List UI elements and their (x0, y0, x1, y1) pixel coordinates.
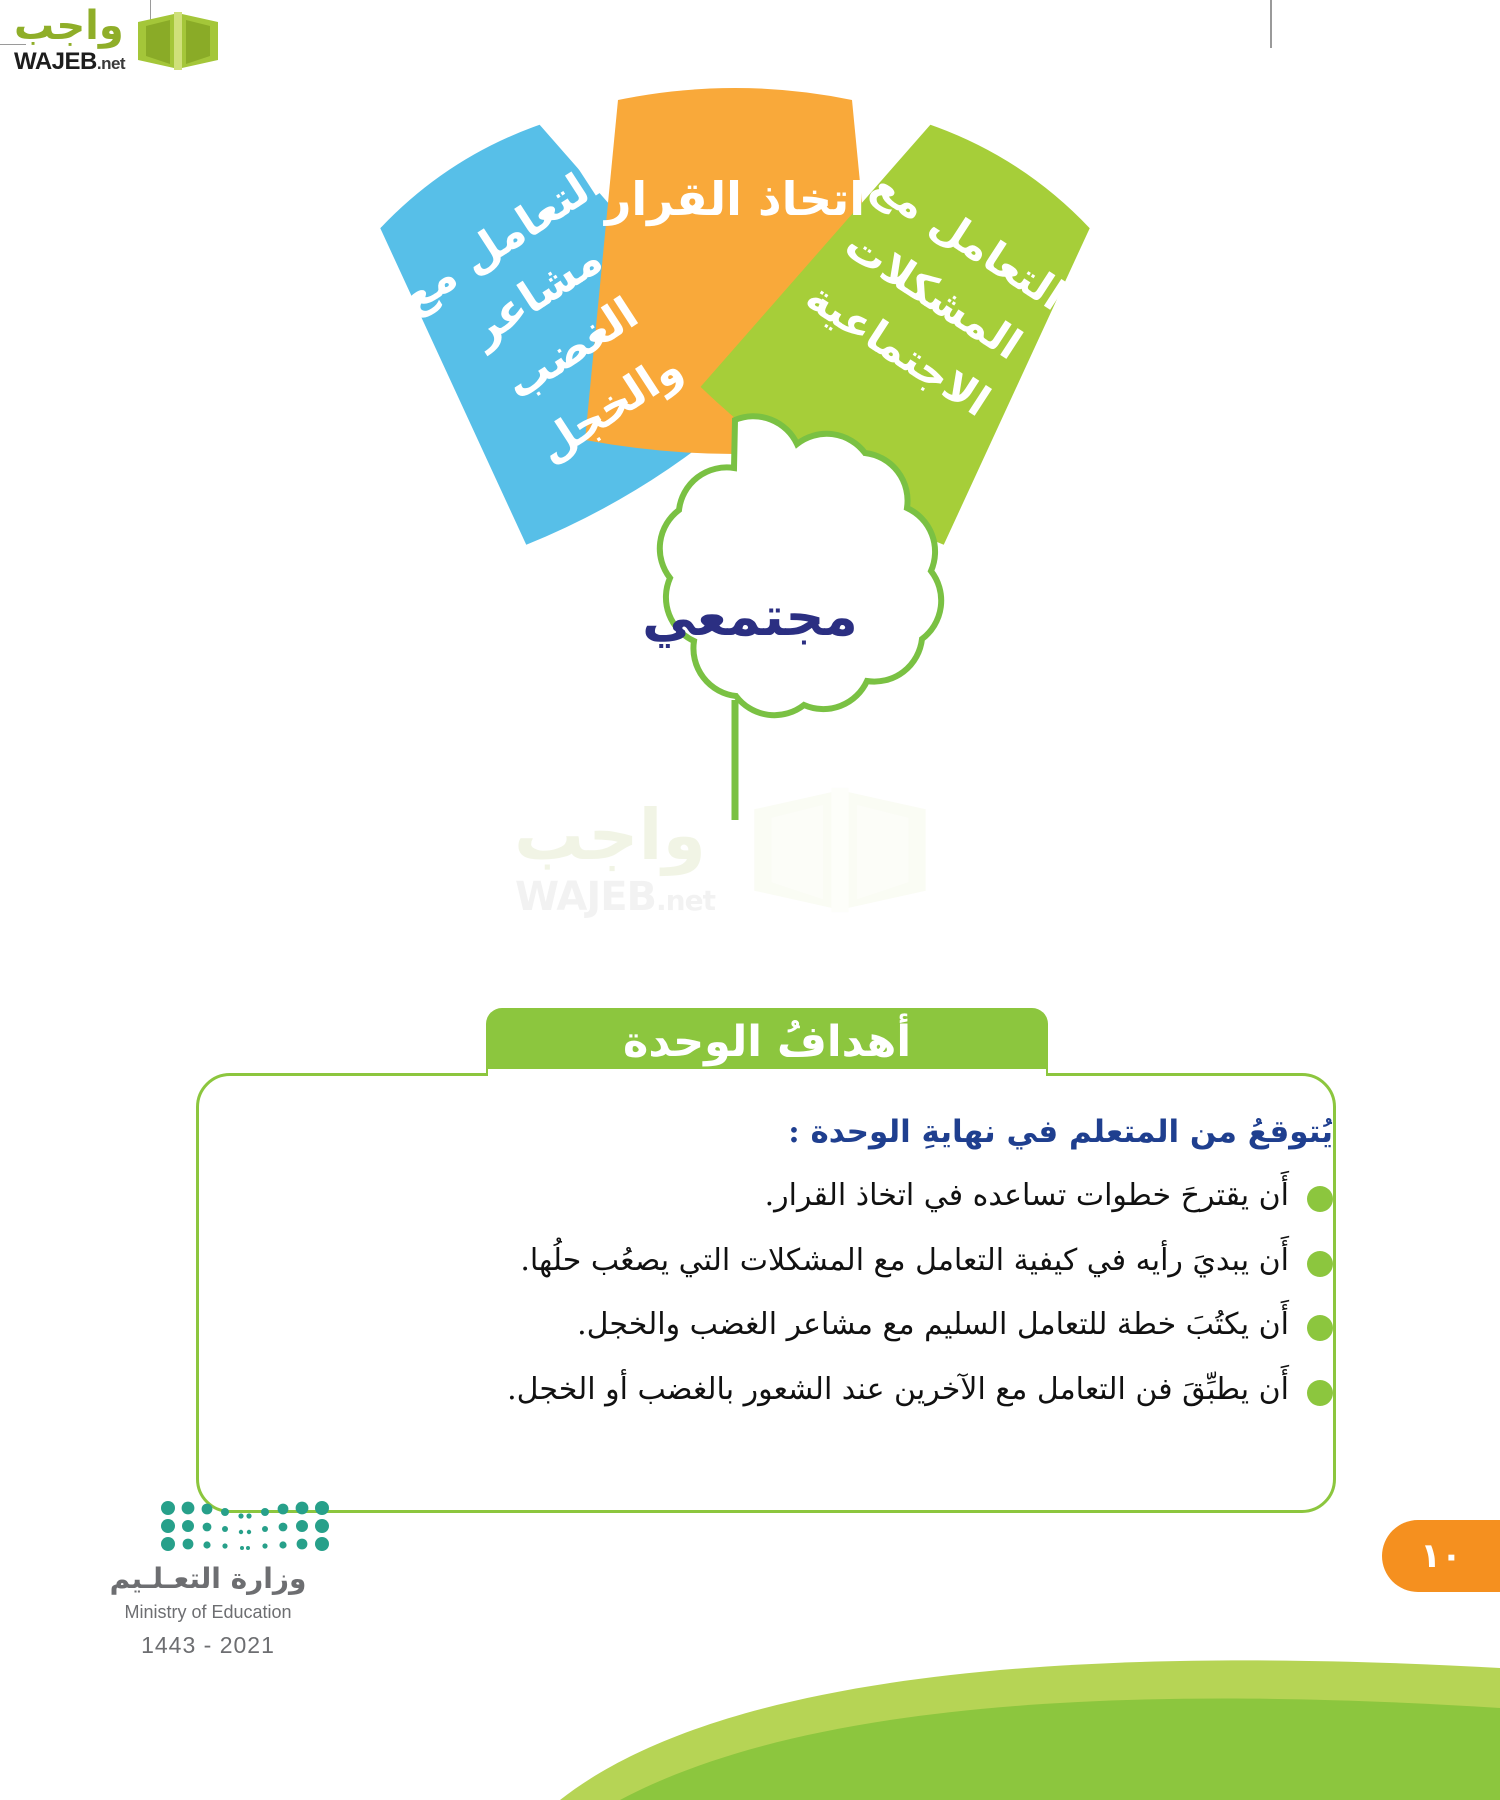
bottom-decoration (0, 1530, 1500, 1800)
petal-center-label: اتخاذ القرار (603, 172, 865, 226)
bullet-dot-icon (1307, 1186, 1333, 1212)
watermark-latin-text: WAJEB (515, 874, 656, 920)
list-item: أَن يبديَ رأيه في كيفية التعامل مع المشك… (238, 1241, 1333, 1282)
flower-center-label: مجتمعي (0, 585, 1500, 648)
watermark-book-icon (750, 780, 930, 920)
banner-seam-mask (488, 1069, 1046, 1077)
list-item: أَن يطبِّقَ فن التعامل مع الآخرين عند ال… (238, 1370, 1333, 1411)
bullet-dot-icon (1307, 1315, 1333, 1341)
objectives-list: أَن يقترحَ خطوات تساعده في اتخاذ القرار.… (238, 1176, 1333, 1434)
objectives-banner: أهدافُ الوحدة (486, 1008, 1048, 1076)
objective-text: أَن يطبِّقَ فن التعامل مع الآخرين عند ال… (238, 1370, 1289, 1411)
bullet-dot-icon (1307, 1251, 1333, 1277)
objective-text: أَن يكتُبَ خطة للتعامل السليم مع مشاعر ا… (238, 1305, 1289, 1346)
watermark-arabic: واجب (470, 800, 750, 870)
objectives-box: يُتوقعُ من المتعلم في نهايةِ الوحدة : أَ… (196, 1073, 1336, 1513)
wajeb-watermark: واجب WAJEB.net (470, 800, 1000, 960)
watermark-tld: .net (656, 884, 715, 917)
objectives-banner-title: أهدافُ الوحدة (623, 1017, 911, 1067)
objective-text: أَن يقترحَ خطوات تساعده في اتخاذ القرار. (238, 1176, 1289, 1217)
objective-text: أَن يبديَ رأيه في كيفية التعامل مع المشك… (238, 1241, 1289, 1282)
watermark-latin: WAJEB.net (470, 874, 760, 920)
list-item: أَن يقترحَ خطوات تساعده في اتخاذ القرار. (238, 1176, 1333, 1217)
textbook-page: واجب WAJEB.net التعامل مع مشاعر الغ (0, 0, 1500, 1800)
bullet-dot-icon (1307, 1380, 1333, 1406)
objectives-intro: يُتوقعُ من المتعلم في نهايةِ الوحدة : (273, 1114, 1333, 1150)
list-item: أَن يكتُبَ خطة للتعامل السليم مع مشاعر ا… (238, 1305, 1333, 1346)
petal-center-text-group: اتخاذ القرار (603, 172, 865, 226)
unit-topics-fan-diagram: التعامل مع مشاعر الغضب والخجل اتخاذ القر… (0, 0, 1500, 820)
